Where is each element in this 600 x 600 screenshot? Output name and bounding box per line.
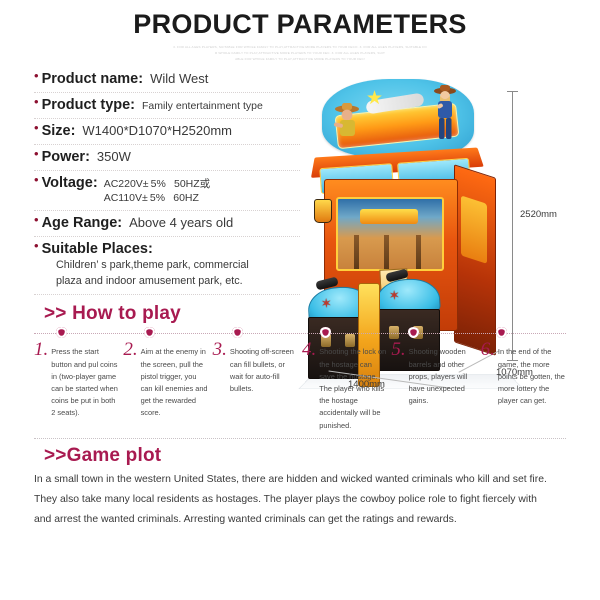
- screen-scenery-post-2: [384, 235, 389, 269]
- spec-row-voltage: • Voltage: AC220V± 5% 50HZ或 AC110V± 5% 6…: [34, 171, 300, 211]
- bullet-icon: •: [34, 147, 39, 160]
- cowboy-character-right-icon: [432, 84, 458, 140]
- bullet-icon: •: [34, 121, 39, 134]
- height-dimension-label: 2520mm: [520, 209, 557, 220]
- game-plot-body: In a small town in the western United St…: [0, 467, 600, 531]
- spec-value: W1400*D1070*H2520mm: [82, 123, 232, 138]
- spec-label: Power:: [42, 149, 90, 165]
- spec-value: AC220V± 5% 50HZ或 AC110V± 5% 60HZ: [104, 177, 211, 205]
- header-subtitle: 3. FOR ALL AGES PLAYERS, SUITABLE FOR WH…: [110, 44, 490, 63]
- spec-label: Suitable Places:: [42, 241, 153, 257]
- bullet-icon: •: [34, 95, 39, 108]
- step-item: 3. Shooting off-screen can fill bullets,…: [213, 340, 302, 432]
- product-image-panel: ★ ✶ ✶: [300, 69, 600, 296]
- spec-label: Age Range:: [42, 215, 123, 231]
- spec-row-power: • Power: 350W: [34, 145, 300, 171]
- spec-heading: • Suitable Places:: [34, 241, 300, 257]
- step-text: Shooting off-screen can fill bullets, or…: [230, 340, 297, 395]
- spec-value: Family entertainment type: [142, 100, 263, 112]
- spec-value: Children’ s park,theme park, commercial …: [34, 258, 300, 289]
- bullet-icon: •: [34, 69, 39, 82]
- step-text: In the end of the game, the more points …: [498, 340, 565, 407]
- plot-line-2: They also take many local residents as h…: [34, 490, 560, 510]
- suitable-places-line-2: plaza and indoor amusement park, etc.: [56, 274, 300, 290]
- spec-row-size: • Size: W1400*D1070*H2520mm: [34, 119, 300, 145]
- screen-scenery-post-3: [416, 235, 421, 269]
- step-item: 5. Shooting wooden barrels and other pro…: [391, 340, 480, 432]
- voltage-line-2: AC110V± 5% 60HZ: [104, 191, 211, 205]
- step-number: 4.: [302, 340, 316, 359]
- spec-value: Above 4 years old: [129, 215, 233, 230]
- spec-label: Voltage:: [42, 175, 98, 191]
- game-plot-section: >>Game plot In a small town in the weste…: [0, 439, 600, 531]
- how-to-play-heading: >> How to play: [0, 303, 600, 325]
- plot-line-3: and arrest the wanted criminals. Arresti…: [34, 510, 560, 530]
- spec-row-age-range: • Age Range: Above 4 years old: [34, 211, 300, 237]
- step-text: Shooting the lock on the hostage can sav…: [319, 340, 386, 432]
- bullet-icon: •: [34, 173, 39, 186]
- step-item: 4. Shooting the lock on the hostage can …: [302, 340, 391, 432]
- step-item: 1. Press the start button and pul coins …: [34, 340, 123, 432]
- spec-row-suitable-places: • Suitable Places: Children’ s park,them…: [34, 237, 300, 295]
- bullet-icon: •: [34, 213, 39, 226]
- game-logo-on-screen: [360, 209, 418, 224]
- plot-line-1: In a small town in the western United St…: [34, 470, 560, 490]
- game-plot-heading: >>Game plot: [0, 445, 600, 467]
- marquee-artwork: ★: [322, 79, 474, 157]
- step-number: 5.: [391, 340, 405, 359]
- lantern-decoration: [314, 199, 332, 223]
- how-to-play-section: >> How to play 1. Press the start button…: [0, 295, 600, 432]
- step-number: 3.: [213, 340, 227, 359]
- step-item: 6. In the end of the game, the more poin…: [481, 340, 570, 432]
- main-content: • Product name: Wild West • Product type…: [0, 63, 600, 296]
- page-header: PRODUCT PARAMETERS 3. FOR ALL AGES PLAYE…: [0, 0, 600, 63]
- step-number: 6.: [481, 340, 495, 359]
- main-game-screen: [336, 197, 444, 271]
- how-to-play-steps: 1. Press the start button and pul coins …: [0, 334, 600, 432]
- voltage-line-1: AC220V± 5% 50HZ或: [104, 177, 211, 191]
- step-text: Aim at the enemy in the screen, pull the…: [141, 340, 208, 419]
- bullet-icon: •: [34, 239, 39, 252]
- step-number: 1.: [34, 340, 48, 359]
- step-text: Shooting wooden barrels and other props,…: [409, 340, 476, 407]
- spec-label: Size:: [42, 123, 76, 139]
- screen-scenery-post-1: [354, 235, 359, 269]
- cowboy-character-left-icon: [332, 101, 362, 141]
- spec-row-product-name: • Product name: Wild West: [34, 69, 300, 93]
- spec-row-product-type: • Product type: Family entertainment typ…: [34, 93, 300, 119]
- specification-list: • Product name: Wild West • Product type…: [0, 69, 300, 296]
- spec-label: Product type:: [42, 97, 135, 113]
- page-title: PRODUCT PARAMETERS: [0, 10, 600, 40]
- spec-value: Wild West: [150, 71, 208, 86]
- step-text: Press the start button and pul coins in …: [51, 340, 118, 419]
- steps-divider: [34, 333, 566, 334]
- suitable-places-line-1: Children’ s park,theme park, commercial: [56, 258, 300, 274]
- step-item: 2. Aim at the enemy in the screen, pull …: [123, 340, 212, 432]
- spec-value: 350W: [97, 149, 131, 164]
- step-number: 2.: [123, 340, 137, 359]
- spec-label: Product name:: [42, 71, 144, 87]
